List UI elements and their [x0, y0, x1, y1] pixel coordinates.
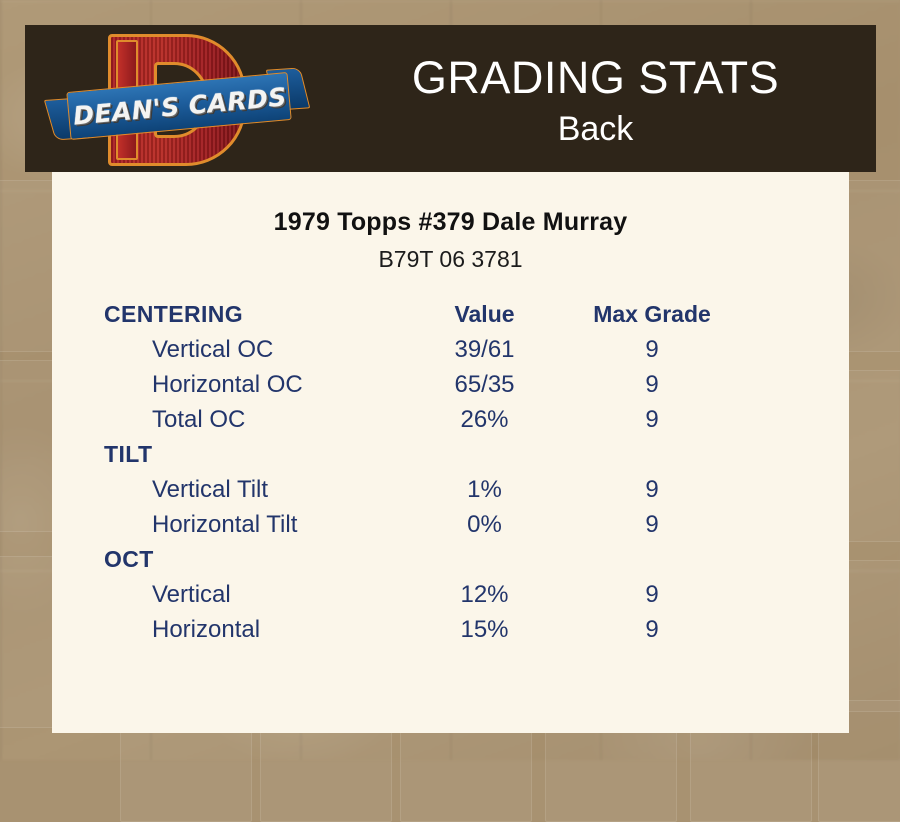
header-title-block: GRADING STATS Back — [315, 25, 876, 172]
row-label: Horizontal Tilt — [52, 511, 407, 539]
row-max-grade: 9 — [562, 616, 742, 644]
table-row: Horizontal Tilt 0% 9 — [52, 511, 849, 546]
column-header-max-grade: Max Grade — [562, 301, 742, 328]
row-max-grade: 9 — [562, 581, 742, 609]
card-title: 1979 Topps #379 Dale Murray — [52, 208, 849, 237]
row-label: Vertical Tilt — [52, 476, 407, 504]
row-value: 39/61 — [407, 336, 562, 364]
row-value: 0% — [407, 511, 562, 539]
group-header-tilt: TILT — [52, 441, 849, 476]
row-value: 12% — [407, 581, 562, 609]
row-label: Vertical OC — [52, 336, 407, 364]
row-label: Total OC — [52, 406, 407, 434]
group-header-oct: OCT — [52, 546, 849, 581]
row-label: Horizontal OC — [52, 371, 407, 399]
row-value: 26% — [407, 406, 562, 434]
content-panel: 1979 Topps #379 Dale Murray B79T 06 3781… — [52, 172, 849, 733]
table-row: Vertical Tilt 1% 9 — [52, 476, 849, 511]
row-max-grade: 9 — [562, 511, 742, 539]
deans-cards-logo[interactable]: DEAN'S CARDS — [50, 28, 305, 170]
row-max-grade: 9 — [562, 406, 742, 434]
row-label: Horizontal — [52, 616, 407, 644]
page-title: GRADING STATS — [412, 55, 779, 100]
table-row: Vertical OC 39/61 9 — [52, 336, 849, 371]
table-header-row: CENTERING Value Max Grade — [52, 301, 849, 336]
row-max-grade: 9 — [562, 476, 742, 504]
row-value: 1% — [407, 476, 562, 504]
column-header-category: CENTERING — [52, 301, 407, 328]
row-value: 65/35 — [407, 371, 562, 399]
table-row: Horizontal 15% 9 — [52, 616, 849, 651]
page-header: DEAN'S CARDS GRADING STATS Back — [25, 25, 876, 172]
row-max-grade: 9 — [562, 336, 742, 364]
logo-ribbon-icon: DEAN'S CARDS — [50, 76, 305, 138]
group-label: TILT — [52, 441, 407, 468]
card-serial-number: B79T 06 3781 — [52, 246, 849, 273]
table-row: Horizontal OC 65/35 9 — [52, 371, 849, 406]
table-row: Vertical 12% 9 — [52, 581, 849, 616]
table-row: Total OC 26% 9 — [52, 406, 849, 441]
row-value: 15% — [407, 616, 562, 644]
grading-stats-table: CENTERING Value Max Grade Vertical OC 39… — [52, 301, 849, 651]
row-max-grade: 9 — [562, 371, 742, 399]
card-side-label: Back — [558, 110, 634, 149]
row-label: Vertical — [52, 581, 407, 609]
group-label: OCT — [52, 546, 407, 573]
column-header-value: Value — [407, 301, 562, 328]
